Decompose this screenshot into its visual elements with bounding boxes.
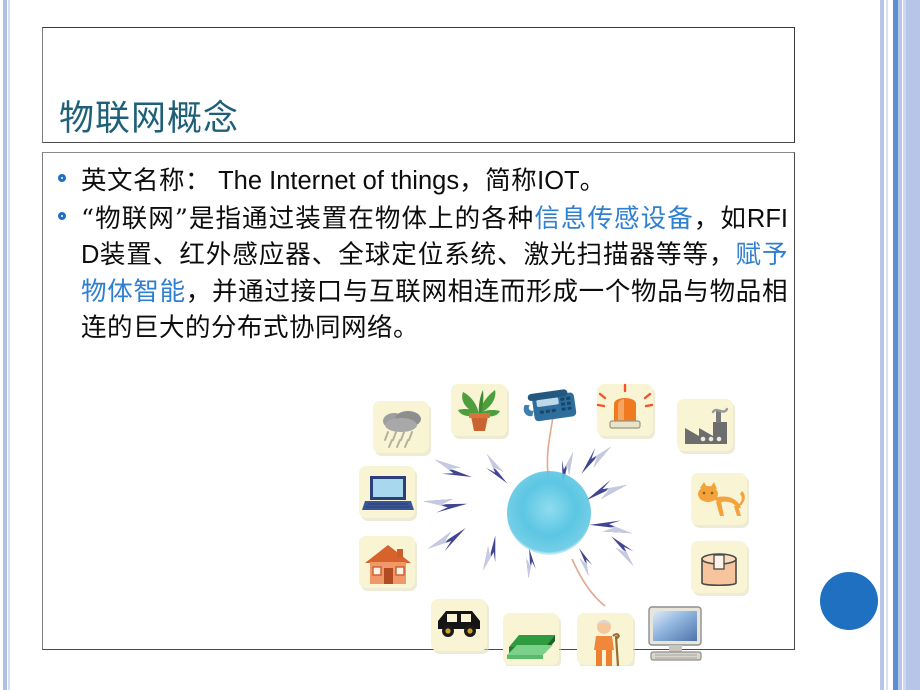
page-title: 物联网概念 <box>59 101 239 138</box>
text-run-normal: ，简称 <box>459 166 537 196</box>
text-run-normal: ，如 <box>694 204 747 234</box>
factory-icon <box>677 399 735 454</box>
alarm-siren-icon <box>597 384 655 439</box>
bullet-list: 英文名称： The Internet of things，简称IOT。 “物联网… <box>55 163 788 348</box>
left-stripe-2 <box>8 0 10 690</box>
bullet-ring-icon <box>58 174 66 182</box>
elderly-person-icon <box>577 613 635 666</box>
text-run-normal: 。 <box>580 166 606 196</box>
cat-icon <box>691 473 749 528</box>
text-run-latin: The Internet of things <box>211 167 459 195</box>
left-stripe-1 <box>3 0 7 690</box>
rain-cloud-icon <box>373 401 431 456</box>
house-icon <box>359 536 417 591</box>
text-run-latin: IOT <box>537 167 580 195</box>
text-run-normal: ，并通过接口与互联网相连而形成一个物品与物品相连的巨大的分布式协同网络。 <box>81 277 788 343</box>
laptop-icon <box>359 466 417 521</box>
right-stripe-1 <box>880 0 884 690</box>
books-icon <box>503 613 561 666</box>
telephone-icon <box>522 388 577 423</box>
text-run-normal: 英文名称： <box>81 166 211 196</box>
desktop-computer-icon <box>649 607 701 660</box>
corner-circle-decoration <box>820 572 878 630</box>
right-stripe-4 <box>898 0 902 690</box>
text-run-normal: 装置、红外感应器、全球定位系统、激光扫描器等等， <box>99 240 735 270</box>
list-item: 英文名称： The Internet of things，简称IOT。 <box>55 163 788 199</box>
right-stripe-2 <box>886 0 888 690</box>
potted-plant-icon <box>451 384 509 439</box>
car-icon <box>431 599 489 654</box>
iot-network-illustration <box>343 381 763 666</box>
title-placeholder: 物联网概念 <box>42 27 795 143</box>
list-item: “物联网”是指通过装置在物体上的各种信息传感设备，如RFID装置、红外感应器、全… <box>55 201 788 346</box>
bullet-ring-icon <box>58 212 66 220</box>
package-box-icon <box>691 541 749 596</box>
bullet-english-name-text: 英文名称： The Internet of things，简称IOT。 <box>81 163 788 199</box>
content-placeholder: 英文名称： The Internet of things，简称IOT。 “物联网… <box>42 152 795 650</box>
slide-canvas: 物联网概念 英文名称： The Internet of things，简称IOT… <box>0 0 920 690</box>
bullet-definition-text: “物联网”是指通过装置在物体上的各种信息传感设备，如RFID装置、红外感应器、全… <box>81 201 788 346</box>
text-run-highlight: 信息传感设备 <box>534 204 693 234</box>
text-run-normal: “物联网”是指通过装置在物体上的各种 <box>81 204 534 234</box>
right-stripe-6 <box>906 0 920 690</box>
